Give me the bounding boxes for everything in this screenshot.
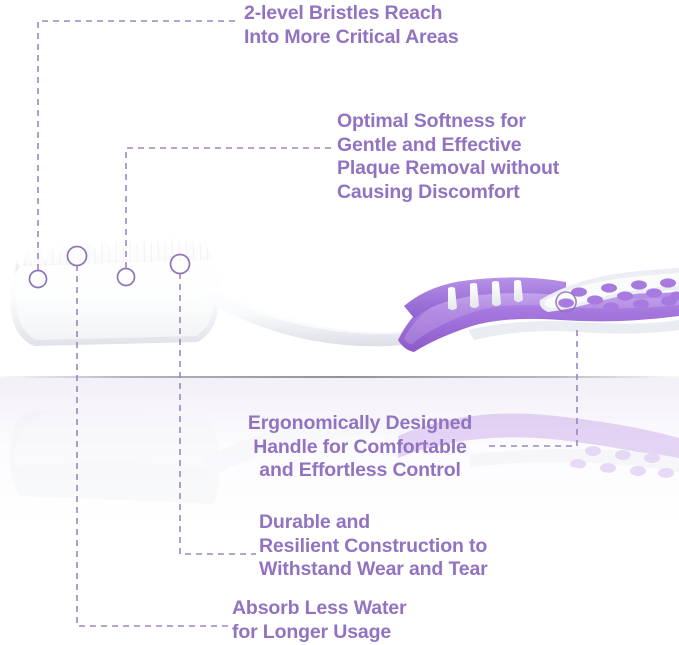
marker-3[interactable] <box>118 269 135 286</box>
infographic-canvas: 2-level Bristles Reach Into More Critica… <box>0 0 679 645</box>
callout-softness: Optimal Softness for Gentle and Effectiv… <box>337 110 559 204</box>
marker-2[interactable] <box>68 247 87 266</box>
leader-line-softness <box>126 148 333 268</box>
leader-line-water <box>77 265 228 626</box>
callout-handle: Ergonomically Designed Handle for Comfor… <box>232 412 488 483</box>
leader-line-bristles <box>38 21 240 270</box>
marker-1[interactable] <box>30 271 47 288</box>
leader-line-handle <box>487 330 577 446</box>
callout-water: Absorb Less Water for Longer Usage <box>232 597 406 644</box>
callout-durability: Durable and Resilient Construction to Wi… <box>259 511 488 582</box>
callout-bristles: 2-level Bristles Reach Into More Critica… <box>244 2 459 49</box>
marker-4[interactable] <box>171 255 190 274</box>
